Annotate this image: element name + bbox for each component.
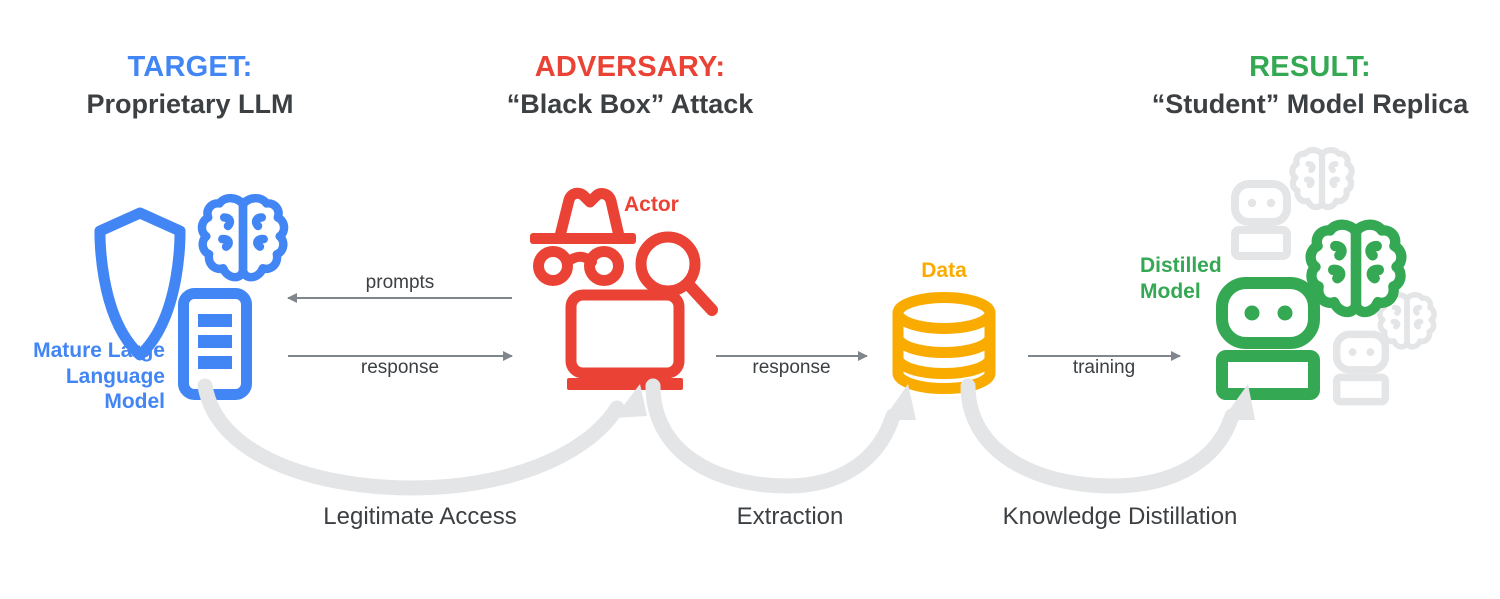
flow-response-1-label: response [288,357,512,379]
distilled-model-node-label: Distilled Model [1140,253,1222,304]
stage-caption-extraction: Extraction [670,503,910,531]
swoop-extraction [645,382,920,498]
adversary-kicker: ADVERSARY: [440,50,820,84]
diagram-canvas: TARGET: Proprietary LLM ADVERSARY: “Blac… [0,0,1500,599]
laptop-icon [565,290,685,395]
llm-label-line1: Mature Large [33,339,165,362]
target-kicker: TARGET: [10,50,370,84]
flow-prompts-label: prompts [288,272,512,294]
column-header-target: TARGET: Proprietary LLM [10,50,370,121]
ghost-brain-icon [1288,145,1356,217]
result-subtitle: “Student” Model Replica [1120,89,1500,121]
incognito-icon [522,188,640,288]
arrowhead-left-icon [287,293,297,303]
llm-node-label: Mature Large Language Model [0,338,165,415]
target-subtitle: Proprietary LLM [10,89,370,121]
brain-icon [196,192,290,290]
flow-prompts-line [288,297,512,299]
llm-label-line2: Language [66,365,165,388]
ghost-robot-icon [1332,330,1390,406]
result-kicker: RESULT: [1120,50,1500,84]
swoop-legitimate-access [185,382,655,498]
distilled-label-line2: Model [1140,280,1201,303]
column-header-result: RESULT: “Student” Model Replica [1120,50,1500,121]
actor-node-label: Actor [624,192,679,218]
flow-training-label: training [1024,357,1184,379]
robot-icon [1216,278,1320,398]
flow-response-2-label: response [706,357,877,379]
stage-caption-legitimate-access: Legitimate Access [260,503,580,531]
flow-prompts [288,297,512,299]
swoop-knowledge-distillation [960,382,1260,498]
llm-label-line3: Model [104,390,165,413]
column-header-adversary: ADVERSARY: “Black Box” Attack [440,50,820,121]
database-icon [890,292,998,394]
stage-caption-knowledge-distillation: Knowledge Distillation [950,503,1290,531]
ghost-robot-icon [1230,180,1292,260]
distilled-label-line1: Distilled [1140,254,1222,277]
adversary-subtitle: “Black Box” Attack [440,89,820,121]
data-node-label: Data [890,258,998,284]
